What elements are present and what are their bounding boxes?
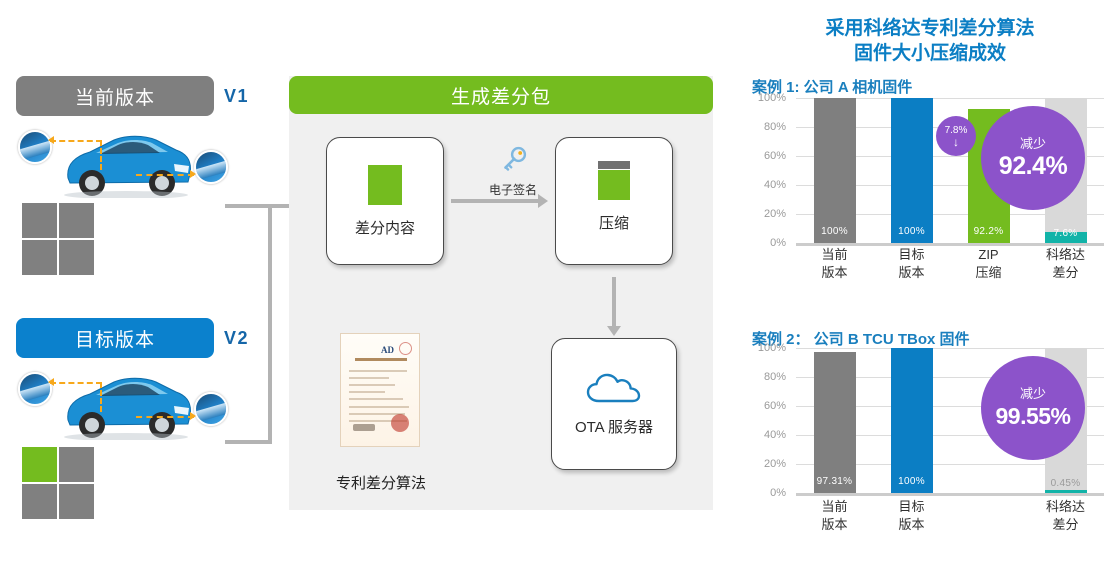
- car-detail-callout-right: [194, 392, 228, 426]
- firmware-block-changed: [22, 447, 57, 482]
- callout-arrow-left: [48, 378, 54, 386]
- arrow-to-ota-server: [612, 277, 616, 327]
- diff-package-header: 生成差分包: [289, 76, 713, 114]
- car-detail-callout-left: [18, 372, 52, 406]
- certificate-title-bar: [355, 358, 407, 361]
- ota-server-label: OTA 服务器: [575, 416, 653, 437]
- firmware-block: [59, 447, 94, 482]
- arrow-to-compression: [451, 199, 539, 203]
- certificate-stamp-icon: [399, 342, 412, 355]
- firmware-block: [59, 484, 94, 519]
- y-tick-label: 0%: [770, 237, 786, 249]
- car-icon: [56, 126, 196, 198]
- current-version-firmware-blocks: [22, 203, 94, 275]
- compression-icon: [598, 170, 630, 200]
- y-axis-labels: 0%20%40%60%80%100%: [752, 348, 790, 528]
- x-tick-label: ZIP压缩: [950, 246, 1027, 282]
- bar-cell: 97.31%: [796, 348, 873, 493]
- diff-content-node: 差分内容: [326, 137, 444, 265]
- y-tick-label: 100%: [758, 342, 786, 354]
- bar: 97.31%: [814, 352, 856, 493]
- slide-root: 当前版本 V1 目标版本 V2: [0, 0, 1114, 571]
- case-2-x-axis-labels: 当前版本目标版本科络达差分: [796, 498, 1104, 534]
- diff-package-header-label: 生成差分包: [451, 82, 551, 109]
- charts-title-line-1: 采用科络达专利差分算法: [752, 16, 1108, 41]
- ota-server-node: OTA 服务器: [551, 338, 677, 470]
- y-tick-label: 20%: [764, 208, 786, 220]
- car-icon: [56, 368, 196, 440]
- charts-title-line-2: 固件大小压缩成效: [752, 41, 1108, 66]
- firmware-block: [22, 203, 57, 238]
- current-version-badge: 当前版本: [16, 76, 214, 116]
- callout-dash-line-1: [50, 140, 102, 142]
- target-version-badge: 目标版本: [16, 318, 214, 358]
- bar-value-label: 7.6%: [1045, 228, 1087, 239]
- callout-dash-line-3: [136, 416, 194, 418]
- car-detail-callout-left: [18, 130, 52, 164]
- bar-value-label: 100%: [891, 226, 933, 237]
- callout-arrow-left: [48, 136, 54, 144]
- charts-main-title: 采用科络达专利差分算法 固件大小压缩成效: [752, 16, 1108, 66]
- current-version-car-illustration: [18, 118, 228, 213]
- cloud-icon: [586, 372, 642, 404]
- electronic-signature-group: 电子签名: [470, 145, 556, 198]
- x-tick-label: 当前版本: [796, 498, 873, 534]
- bar: 0.45%: [1045, 490, 1087, 493]
- total-reduction-badge: 减少92.4%: [981, 106, 1085, 210]
- firmware-block: [22, 240, 57, 275]
- x-tick-label: 科络达差分: [1027, 246, 1104, 282]
- target-version-car-illustration: [18, 360, 228, 455]
- callout-arrow-right: [190, 412, 196, 420]
- bar-value-label: 97.31%: [814, 476, 856, 487]
- reduction-percent: 92.4%: [999, 152, 1067, 180]
- y-axis-labels: 0%20%40%60%80%100%: [752, 98, 790, 290]
- x-tick-label: [950, 498, 1027, 534]
- current-version-label: 当前版本: [75, 83, 155, 110]
- reduction-caption: 减少: [1020, 386, 1046, 402]
- bar-value-label: 100%: [891, 476, 933, 487]
- reduction-percent: 99.55%: [995, 402, 1070, 430]
- version-merge-bracket: [225, 204, 297, 444]
- bracket-spine: [268, 204, 272, 444]
- key-icon: [498, 145, 528, 175]
- car-detail-callout-right: [194, 150, 228, 184]
- total-reduction-badge: 减少99.55%: [981, 356, 1085, 460]
- zip-reduction-badge: 7.8%↓: [936, 116, 976, 156]
- x-tick-label: 当前版本: [796, 246, 873, 282]
- arrow-down-icon: ↓: [953, 137, 959, 147]
- case-1-x-axis-labels: 当前版本目标版本ZIP压缩科络达差分: [796, 246, 1104, 282]
- target-version-label: 目标版本: [75, 325, 155, 352]
- callout-dash-line-2: [100, 140, 102, 170]
- reduction-caption: 减少: [1020, 136, 1046, 152]
- x-tick-label: 目标版本: [873, 246, 950, 282]
- patent-algorithm-label: 专利差分算法: [323, 472, 439, 493]
- callout-dash-line-2: [100, 382, 102, 412]
- firmware-block: [59, 240, 94, 275]
- bar-value-label: 92.2%: [968, 226, 1010, 237]
- bracket-bottom-arm: [225, 440, 272, 444]
- certificate-signature: [353, 424, 375, 431]
- y-tick-label: 80%: [764, 121, 786, 133]
- callout-dash-line-1: [50, 382, 102, 384]
- callout-dash-line-3: [136, 174, 194, 176]
- callout-arrow-right: [190, 170, 196, 178]
- y-tick-label: 0%: [770, 487, 786, 499]
- x-tick-label: 科络达差分: [1027, 498, 1104, 534]
- target-version-firmware-blocks: [22, 447, 94, 519]
- diff-content-icon: [368, 165, 402, 205]
- x-tick-label: 目标版本: [873, 498, 950, 534]
- current-version-tag: V1: [224, 86, 249, 107]
- y-tick-label: 80%: [764, 371, 786, 383]
- bar: 100%: [891, 98, 933, 243]
- diff-content-label: 差分内容: [355, 217, 415, 238]
- bar-value-label: 0.45%: [1045, 478, 1087, 489]
- y-tick-label: 40%: [764, 179, 786, 191]
- x-axis-line: [796, 493, 1104, 496]
- firmware-block: [59, 203, 94, 238]
- bar: 100%: [814, 98, 856, 243]
- bar: 7.6%: [1045, 232, 1087, 243]
- bar-cell: 100%: [796, 98, 873, 243]
- patent-certificate-image: AD: [340, 333, 420, 447]
- compression-label: 压缩: [599, 212, 629, 233]
- y-tick-label: 60%: [764, 150, 786, 162]
- y-tick-label: 40%: [764, 429, 786, 441]
- bar-cell: 100%: [873, 98, 950, 243]
- bar-cell: 100%: [873, 348, 950, 493]
- bar-value-label: 100%: [814, 226, 856, 237]
- firmware-block: [22, 484, 57, 519]
- certificate-logo: AD: [381, 345, 395, 355]
- bar: 100%: [891, 348, 933, 493]
- y-tick-label: 100%: [758, 92, 786, 104]
- certificate-seal-icon: [391, 414, 409, 432]
- compression-node: 压缩: [555, 137, 673, 265]
- y-tick-label: 60%: [764, 400, 786, 412]
- y-tick-label: 20%: [764, 458, 786, 470]
